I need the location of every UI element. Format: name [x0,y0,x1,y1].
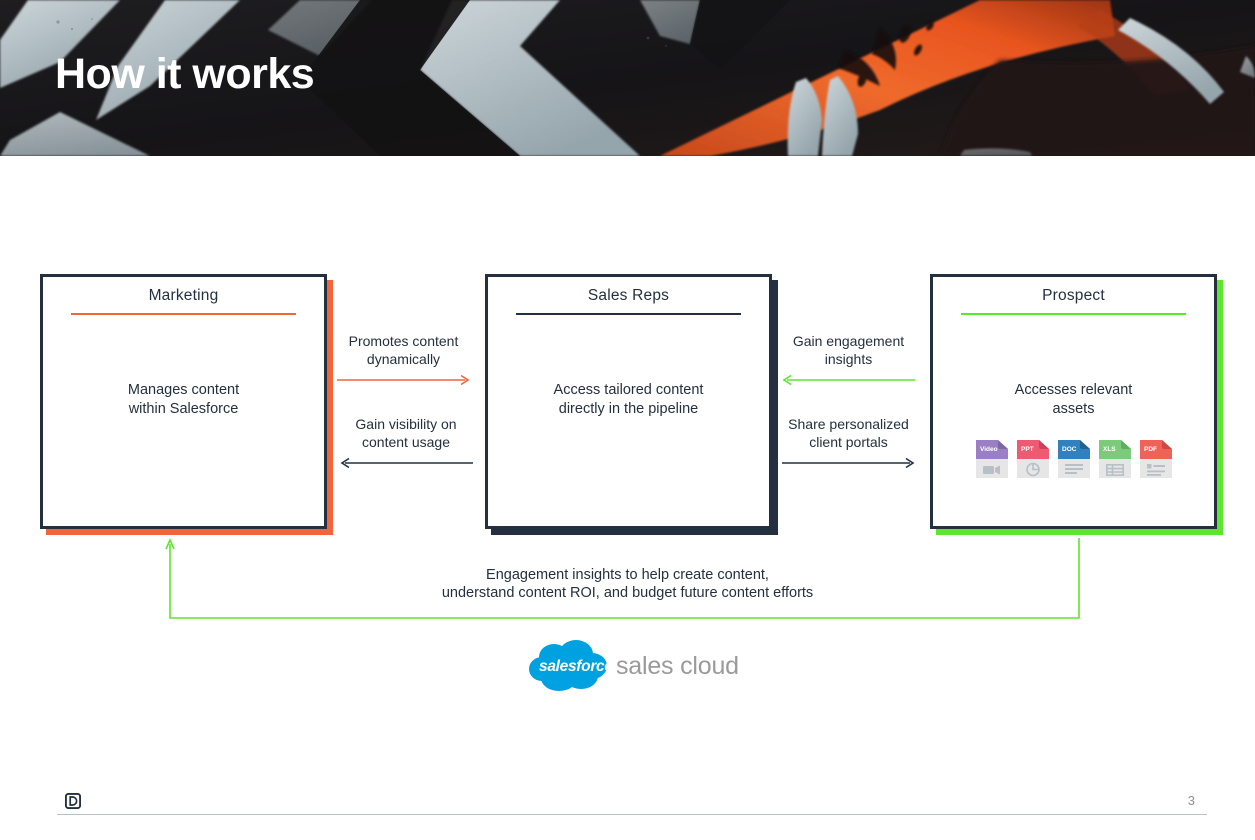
feedback-loop-label: Engagement insights to help create conte… [0,566,1255,602]
prospect-box-title: Prospect [933,287,1214,305]
prospect-box-body: Accesses relevant assets [933,381,1214,419]
arrow-left-navy-icon [340,457,473,469]
d-logo-icon [65,793,81,809]
marketing-box-body: Manages content within Salesforce [43,381,324,419]
doc-file-icon[interactable]: DOC [1058,440,1090,478]
sales-reps-box-body: Access tailored content directly in the … [488,381,769,419]
arrow-gain-engagement: Gain engagement insights [782,333,915,386]
arrow-right-orange-icon [337,374,470,386]
arrow-promotes-content: Promotes content dynamically [337,333,470,386]
page-number: 3 [1188,793,1195,808]
prospect-accent-rule [961,313,1186,315]
footer-divider [57,814,1207,815]
marketing-box[interactable]: Marketing Manages content within Salesfo… [40,274,327,529]
arrow-gain-visibility-label: Gain visibility on content usage [337,416,475,451]
sales-reps-box-title: Sales Reps [488,287,769,305]
arrow-gain-visibility: Gain visibility on content usage [337,416,475,469]
arrow-right-navy-icon [782,457,915,469]
header-banner: How it works [0,0,1255,156]
arrow-gain-engagement-label: Gain engagement insights [782,333,915,368]
salesforce-cloud-icon: salesforce [528,638,608,694]
arrow-promotes-content-label: Promotes content dynamically [337,333,470,368]
ppt-file-icon[interactable]: PPT [1017,440,1049,478]
salesforce-wordmark: salesforce [539,658,613,676]
prospect-box[interactable]: Prospect Accesses relevant assets Video … [930,274,1217,529]
doc-file-label: DOC [1062,446,1077,453]
pdf-file-icon[interactable]: PDF [1140,440,1172,478]
sales-reps-accent-rule [516,313,741,315]
pdf-file-label: PDF [1144,446,1157,453]
file-asset-row: Video PPT [933,440,1214,478]
video-file-label: Video [980,446,998,453]
xls-file-icon[interactable]: XLS [1099,440,1131,478]
ppt-file-label: PPT [1021,446,1034,453]
page-title: How it works [55,53,314,96]
sales-reps-box[interactable]: Sales Reps Access tailored content direc… [485,274,772,529]
salesforce-sales-cloud-logo: salesforce sales cloud [528,638,739,694]
arrow-share-portals-label: Share personalized client portals [782,416,915,451]
arrow-share-portals: Share personalized client portals [782,416,915,469]
xls-file-label: XLS [1103,446,1116,453]
salesforce-product-name: sales cloud [616,652,739,681]
marketing-accent-rule [71,313,296,315]
marketing-box-title: Marketing [43,287,324,305]
video-file-icon[interactable]: Video [976,440,1008,478]
arrow-left-green-icon [782,374,915,386]
